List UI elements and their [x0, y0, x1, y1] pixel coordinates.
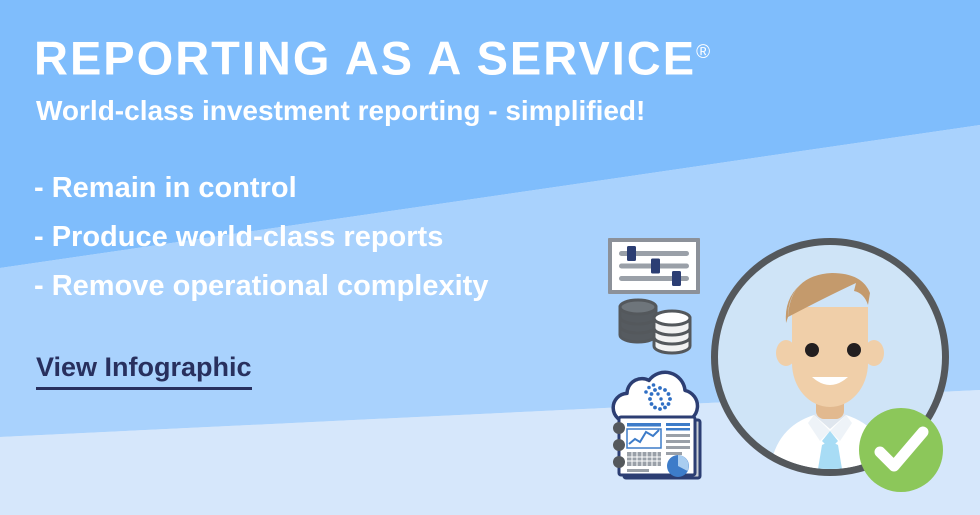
page-title: REPORTING AS A SERVICE® — [34, 27, 710, 85]
advisor-avatar — [711, 238, 949, 476]
feature-icon-stack — [604, 238, 708, 486]
verified-check-badge — [855, 404, 947, 496]
report-dashboard-icon — [606, 414, 706, 486]
list-item: - Produce world-class reports — [34, 213, 488, 262]
benefit-list: - Remain in control - Produce world-clas… — [34, 164, 488, 311]
list-item: - Remove operational complexity — [34, 262, 488, 311]
list-item: - Remain in control — [34, 164, 488, 213]
database-stack-icon — [616, 296, 696, 358]
marketing-banner: REPORTING AS A SERVICE® World-class inve… — [0, 0, 980, 515]
sliders-settings-icon — [608, 238, 700, 294]
registered-trademark-icon: ® — [696, 42, 710, 63]
page-subtitle: World-class investment reporting - simpl… — [36, 94, 645, 128]
view-infographic-link[interactable]: View Infographic — [36, 351, 252, 390]
page-title-text: REPORTING AS A SERVICE — [34, 32, 696, 85]
